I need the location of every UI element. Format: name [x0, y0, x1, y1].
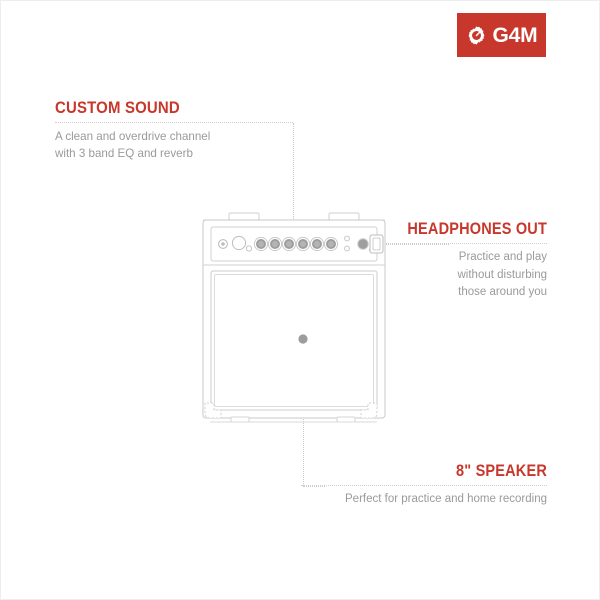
callout-speaker-title: 8" SPEAKER	[331, 463, 547, 480]
indicator-light	[246, 246, 251, 251]
control-knob-4	[296, 237, 309, 250]
power-rocker-switch	[370, 235, 383, 253]
control-knob-5	[310, 237, 323, 250]
callout-speaker-body-line1: Perfect for practice and home recording	[301, 491, 547, 508]
handle-bracket-right	[329, 213, 359, 220]
callout-custom-sound: CUSTOM SOUND A clean and overdrive chann…	[55, 99, 293, 163]
control-knob-1	[254, 237, 267, 250]
callout-custom-sound-divider	[55, 122, 293, 123]
guitar-input-jack	[232, 236, 245, 249]
handle-bracket-left	[229, 213, 259, 220]
control-knob-2	[268, 237, 281, 250]
callout-headphones-out-title: HEADPHONES OUT	[390, 221, 547, 238]
speaker-cone-center	[298, 334, 307, 343]
pilot-lamp-upper	[345, 236, 350, 241]
input-socket	[219, 240, 228, 249]
callout-speaker: 8" SPEAKER Perfect for practice and home…	[301, 463, 547, 509]
infographic-canvas: G4M CUSTOM SOUND A clean and overdrive c…	[0, 0, 600, 600]
logo-wordmark: G4M	[493, 25, 538, 46]
headphone-jack	[358, 239, 368, 249]
control-knob-3	[282, 237, 295, 250]
gear-icon	[466, 25, 487, 46]
amplifier-illustration	[197, 207, 413, 439]
callout-speaker-body: Perfect for practice and home recording	[301, 491, 547, 508]
callout-custom-sound-body-line1: A clean and overdrive channel	[55, 128, 293, 146]
callout-custom-sound-body: A clean and overdrive channel with 3 ban…	[55, 128, 293, 163]
g4m-logo-badge[interactable]: G4M	[457, 13, 546, 57]
callout-speaker-divider	[301, 485, 547, 486]
control-knob-6	[324, 237, 337, 250]
callout-custom-sound-body-line2: with 3 band EQ and reverb	[55, 145, 293, 163]
callout-custom-sound-title: CUSTOM SOUND	[55, 99, 264, 117]
pilot-lamp-lower	[345, 246, 350, 251]
